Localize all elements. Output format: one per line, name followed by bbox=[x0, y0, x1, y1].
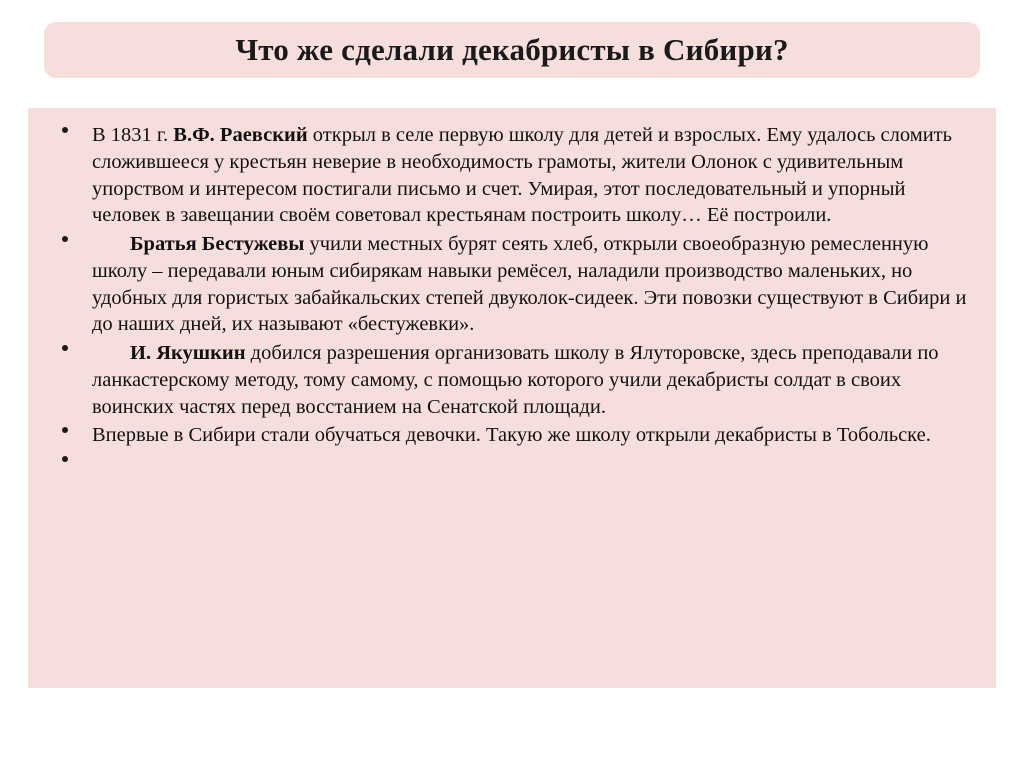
list-item-text: Братья Бестужевы учили местных бурят сея… bbox=[92, 233, 966, 335]
bullet-dot-icon bbox=[62, 427, 68, 433]
bullet-dot-icon bbox=[62, 345, 68, 351]
page-title: Что же сделали декабристы в Сибири? bbox=[235, 32, 788, 68]
emphasized-name: В.Ф. Раевский bbox=[173, 124, 313, 146]
emphasized-name: И. Якушкин bbox=[130, 342, 251, 364]
list-item bbox=[46, 451, 978, 479]
slide: Что же сделали декабристы в Сибири? В 18… bbox=[0, 0, 1024, 767]
bullet-dot-icon bbox=[62, 127, 68, 133]
list-item: И. Якушкин добился разрешения организова… bbox=[46, 340, 978, 420]
list-item: В 1831 г. В.Ф. Раевский открыл в селе пе… bbox=[46, 122, 978, 229]
slide-title-box: Что же сделали декабристы в Сибири? bbox=[44, 22, 980, 78]
list-item: Братья Бестужевы учили местных бурят сея… bbox=[46, 231, 978, 338]
bullet-dot-icon bbox=[62, 236, 68, 242]
text-run: Впервые в Сибири стали обучаться девочки… bbox=[92, 424, 931, 446]
list-item-text: Впервые в Сибири стали обучаться девочки… bbox=[92, 424, 931, 446]
slide-body-panel: В 1831 г. В.Ф. Раевский открыл в селе пе… bbox=[28, 108, 996, 688]
text-run: В 1831 г. bbox=[92, 124, 173, 146]
list-item-text: И. Якушкин добился разрешения организова… bbox=[92, 342, 939, 418]
emphasized-name: Братья Бестужевы bbox=[130, 233, 309, 255]
list-item: Впервые в Сибири стали обучаться девочки… bbox=[46, 422, 978, 449]
bullet-list: В 1831 г. В.Ф. Раевский открыл в селе пе… bbox=[46, 122, 978, 479]
list-item-text: В 1831 г. В.Ф. Раевский открыл в селе пе… bbox=[92, 124, 952, 226]
bullet-dot-icon bbox=[62, 456, 68, 462]
